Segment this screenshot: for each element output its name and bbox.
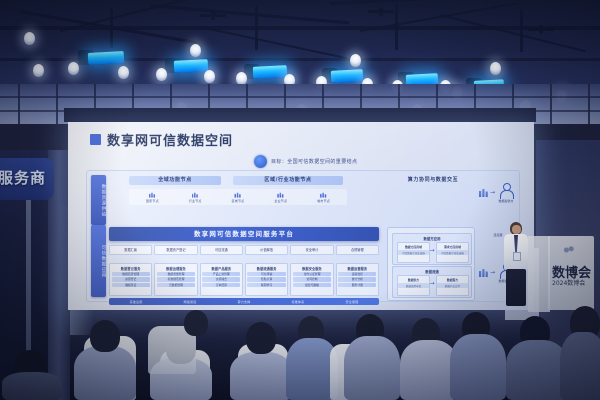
- module-item: 身份认证管理: [293, 272, 331, 277]
- spot-light: [350, 54, 361, 67]
- node-building-icon: [149, 192, 156, 198]
- title-bullet-icon: [90, 134, 101, 145]
- infra-item: 网络通道: [184, 300, 197, 304]
- capability-cell: 安全审计: [290, 245, 333, 255]
- ceiling-fan-icon: [368, 10, 394, 13]
- exchange-card-tag: 可信数据空间连接器: [437, 250, 468, 255]
- exchange-card-right: 数据需方 数据产品交付: [436, 275, 469, 296]
- node-label: 企业节点: [274, 199, 287, 203]
- conference-photo-scene: 服务商 数博会 2024数博会 数享网可信数据空间 目标：全国可信数据空间的重要…: [0, 0, 600, 400]
- truss-beam: [0, 26, 600, 30]
- truss-post: [110, 8, 113, 48]
- module-title: 数据产品服务: [202, 266, 240, 271]
- audience-shoulders: [450, 334, 506, 400]
- module-item: 隐私计算: [247, 277, 285, 282]
- node-chip: 城市节点: [317, 192, 330, 203]
- exchange-card-title: 数据需方: [437, 278, 468, 282]
- infrastructure-bar: 基础设施 网络通道 算力支撑 标准体系 安全保障: [109, 298, 379, 305]
- truss-post: [520, 10, 523, 52]
- user-provider-icon: [499, 183, 512, 198]
- module-item: 资源登记: [112, 277, 150, 282]
- spot-light: [204, 70, 215, 83]
- vertical-label-supply: 数据资源供给: [91, 175, 106, 225]
- module-item: 联邦学习: [247, 283, 285, 288]
- capability-cell: 数据资产登记: [154, 245, 197, 255]
- module-column: 数据产品服务 产品上架管理 交易撮合 订单结算: [200, 263, 243, 296]
- presentation-slide: 数享网可信数据空间 目标：全国可信数据空间的重要结点 数据资源供给 可信数据应用…: [68, 122, 534, 310]
- node-building-icon: [277, 192, 284, 198]
- infra-item: 标准体系: [292, 300, 305, 304]
- service-module-grid: 数据登记服务 数据目录管理 资源登记 确权存证 数据治理服务 数据质量管理 标准…: [109, 263, 379, 296]
- module-item: 统计分析: [338, 277, 376, 282]
- audience-shoulders: [2, 372, 62, 400]
- node-label: 国家节点: [146, 199, 159, 203]
- left-booth-banner: 服务商: [0, 158, 54, 200]
- projection-screen: 数享网可信数据空间 目标：全国可信数据空间的重要结点 数据资源供给 可信数据应用…: [68, 122, 534, 310]
- ceiling-fan-icon: [528, 28, 554, 31]
- connector-node-icon: [479, 267, 489, 277]
- exchange-card-tag: 数据使用申请: [398, 283, 429, 288]
- badge-icon: [513, 252, 521, 261]
- section-header-regional: 区域/行业功能节点: [233, 176, 343, 185]
- stage-light-bar: [253, 65, 288, 79]
- audience-head: [246, 322, 276, 354]
- section-header-compute: 算力协同与数据交互: [387, 176, 479, 185]
- module-title: 数据安全服务: [293, 266, 331, 271]
- exchange-card-tag: 数据产品交付: [437, 283, 468, 288]
- exchange-card-title: 需求方应用域: [437, 245, 468, 249]
- audience-head: [184, 310, 208, 336]
- module-item: 确权存证: [112, 283, 150, 288]
- capability-cell: 价值释放: [245, 245, 288, 255]
- ceiling-fan-icon: [200, 14, 226, 17]
- avatar-body: [500, 190, 514, 199]
- spot-light: [33, 64, 44, 77]
- node-chip: 区域节点: [232, 192, 245, 203]
- module-title: 数据流通服务: [247, 266, 285, 271]
- module-item: 产品上架管理: [202, 272, 240, 277]
- module-column: 数据运营服务 运营监控 统计分析 服务计量: [336, 263, 379, 296]
- actor-label: 数据提供方: [493, 199, 519, 203]
- audience-head: [90, 320, 120, 352]
- spot-light: [190, 44, 201, 57]
- node-chip: 国家节点: [146, 192, 159, 203]
- section-header-global: 全域功能节点: [129, 176, 221, 185]
- module-item: 加密与脱敏: [293, 283, 331, 288]
- stage-light-bar: [88, 51, 125, 65]
- slide-goal-text: 目标：全国可信数据空间的重要结点: [271, 158, 357, 165]
- expo-sign-subtitle: 2024数博会: [552, 278, 585, 287]
- spot-light: [68, 62, 79, 75]
- node-strip: 国家节点 行业节点 区域节点 企业节点: [129, 189, 347, 205]
- audience-shoulders: [230, 352, 292, 400]
- spot-light: [490, 62, 501, 75]
- exchange-card-tag: 可信数据空间连接器: [398, 250, 429, 255]
- module-item: 订单结算: [202, 283, 240, 288]
- slide-goal-row: 目标：全国可信数据空间的重要结点: [254, 155, 357, 168]
- truss-beam: [440, 14, 586, 52]
- exchange-card-title: 数据方应用域: [398, 245, 429, 249]
- infra-item: 算力支撑: [238, 300, 251, 304]
- exchange-card-title: 数据供方: [398, 278, 429, 282]
- module-item: 标准规范管理: [157, 277, 195, 282]
- node-chip: 行业节点: [189, 192, 202, 203]
- connector-node-icon: [479, 187, 489, 197]
- slide-title: 数享网可信数据空间: [107, 130, 233, 149]
- module-item: 数据质量管理: [157, 272, 195, 277]
- exchange-card-left: 数据供方 数据使用申请: [397, 275, 430, 296]
- node-chip: 企业节点: [274, 192, 287, 203]
- node-label: 行业节点: [189, 199, 202, 203]
- module-item: 运营监控: [338, 272, 376, 277]
- module-item: 服务计量: [338, 283, 376, 288]
- expo-logo-icon: [560, 244, 576, 256]
- module-item: 数据目录管理: [112, 272, 150, 277]
- presenter-face: [512, 225, 521, 234]
- capability-cell: 可信流通: [200, 245, 243, 255]
- node-label: 城市节点: [317, 199, 330, 203]
- vertical-label-application: 可信数据应用: [91, 225, 106, 297]
- truss-beam: [200, 26, 347, 59]
- spot-light: [24, 32, 35, 45]
- connector-arrow-icon: →: [490, 269, 495, 276]
- globe-badge-icon: [254, 155, 267, 168]
- module-item: 元数据管理: [157, 283, 195, 288]
- module-title: 数据运营服务: [338, 266, 376, 271]
- presenter: [503, 222, 529, 306]
- node-building-icon: [234, 192, 241, 198]
- module-title: 数据登记服务: [112, 266, 150, 271]
- hall-ceiling: [0, 0, 600, 122]
- left-banner-text: 服务商: [0, 167, 46, 188]
- audience-shoulders: [506, 340, 568, 400]
- truss-beam: [150, 4, 350, 24]
- audience-shoulders: [74, 346, 136, 400]
- platform-banner: 数享网可信数据空间服务平台: [109, 227, 379, 241]
- infra-item: 安全保障: [346, 300, 359, 304]
- audience-shoulders: [560, 332, 600, 400]
- node-building-icon: [192, 192, 199, 198]
- podium: [528, 236, 550, 312]
- stage-light-bar: [331, 69, 364, 83]
- module-column: 数据流通服务 可信传输 隐私计算 联邦学习: [245, 263, 288, 296]
- presenter-legs: [506, 269, 526, 306]
- expo-sign: 数博会 2024数博会: [548, 236, 594, 310]
- stage-backdrop-top: [64, 108, 536, 122]
- node-label: 区域节点: [232, 199, 245, 203]
- capability-cell: 合规管理: [336, 245, 379, 255]
- exchange-card-left: 数据方应用域 可信数据空间连接器: [397, 242, 430, 263]
- module-item: 访问控制: [293, 277, 331, 282]
- exchange-arrow-icon: →: [429, 281, 435, 287]
- data-exchange-panel: 数据方应用 数据方应用域 可信数据空间连接器 → 需求方应用域 可信数据空间连接…: [387, 227, 475, 301]
- architecture-diagram: 数据资源供给 可信数据应用 全域功能节点 区域/行业功能节点 算力协同与数据交互…: [86, 170, 520, 302]
- module-column: 数据登记服务 数据目录管理 资源登记 确权存证: [109, 263, 152, 296]
- exchange-group-title: 数据流通: [393, 269, 471, 274]
- module-column: 数据安全服务 身份认证管理 访问控制 加密与脱敏: [290, 263, 333, 296]
- exchange-card-right: 需求方应用域 可信数据空间连接器: [436, 242, 469, 263]
- capability-row: 数据汇聚 数据资产登记 可信流通 价值释放 安全审计 合规管理: [109, 245, 379, 254]
- slide-title-row: 数享网可信数据空间: [90, 130, 233, 149]
- spot-light: [118, 66, 129, 79]
- connector-arrow-icon: →: [490, 189, 495, 196]
- truss-post: [255, 6, 258, 50]
- audience-shoulders: [344, 336, 400, 400]
- exchange-group-title: 数据方应用: [393, 236, 471, 241]
- module-column: 数据治理服务 数据质量管理 标准规范管理 元数据管理: [154, 263, 197, 296]
- stage-light-bar: [174, 59, 209, 73]
- exchange-group: 数据方应用 数据方应用域 可信数据空间连接器 → 需求方应用域 可信数据空间连接…: [392, 233, 472, 265]
- exchange-arrow-icon: →: [429, 248, 435, 254]
- module-item: 交易撮合: [202, 277, 240, 282]
- capability-cell: 数据汇聚: [109, 245, 152, 255]
- truss-post: [395, 4, 398, 50]
- infra-item: 基础设施: [130, 300, 143, 304]
- module-item: 可信传输: [247, 272, 285, 277]
- exchange-group: 数据流通 数据供方 数据使用申请 → 数据需方 数据产品交付: [392, 266, 472, 298]
- node-building-icon: [320, 192, 327, 198]
- spot-light: [156, 68, 167, 81]
- module-title: 数据治理服务: [157, 266, 195, 271]
